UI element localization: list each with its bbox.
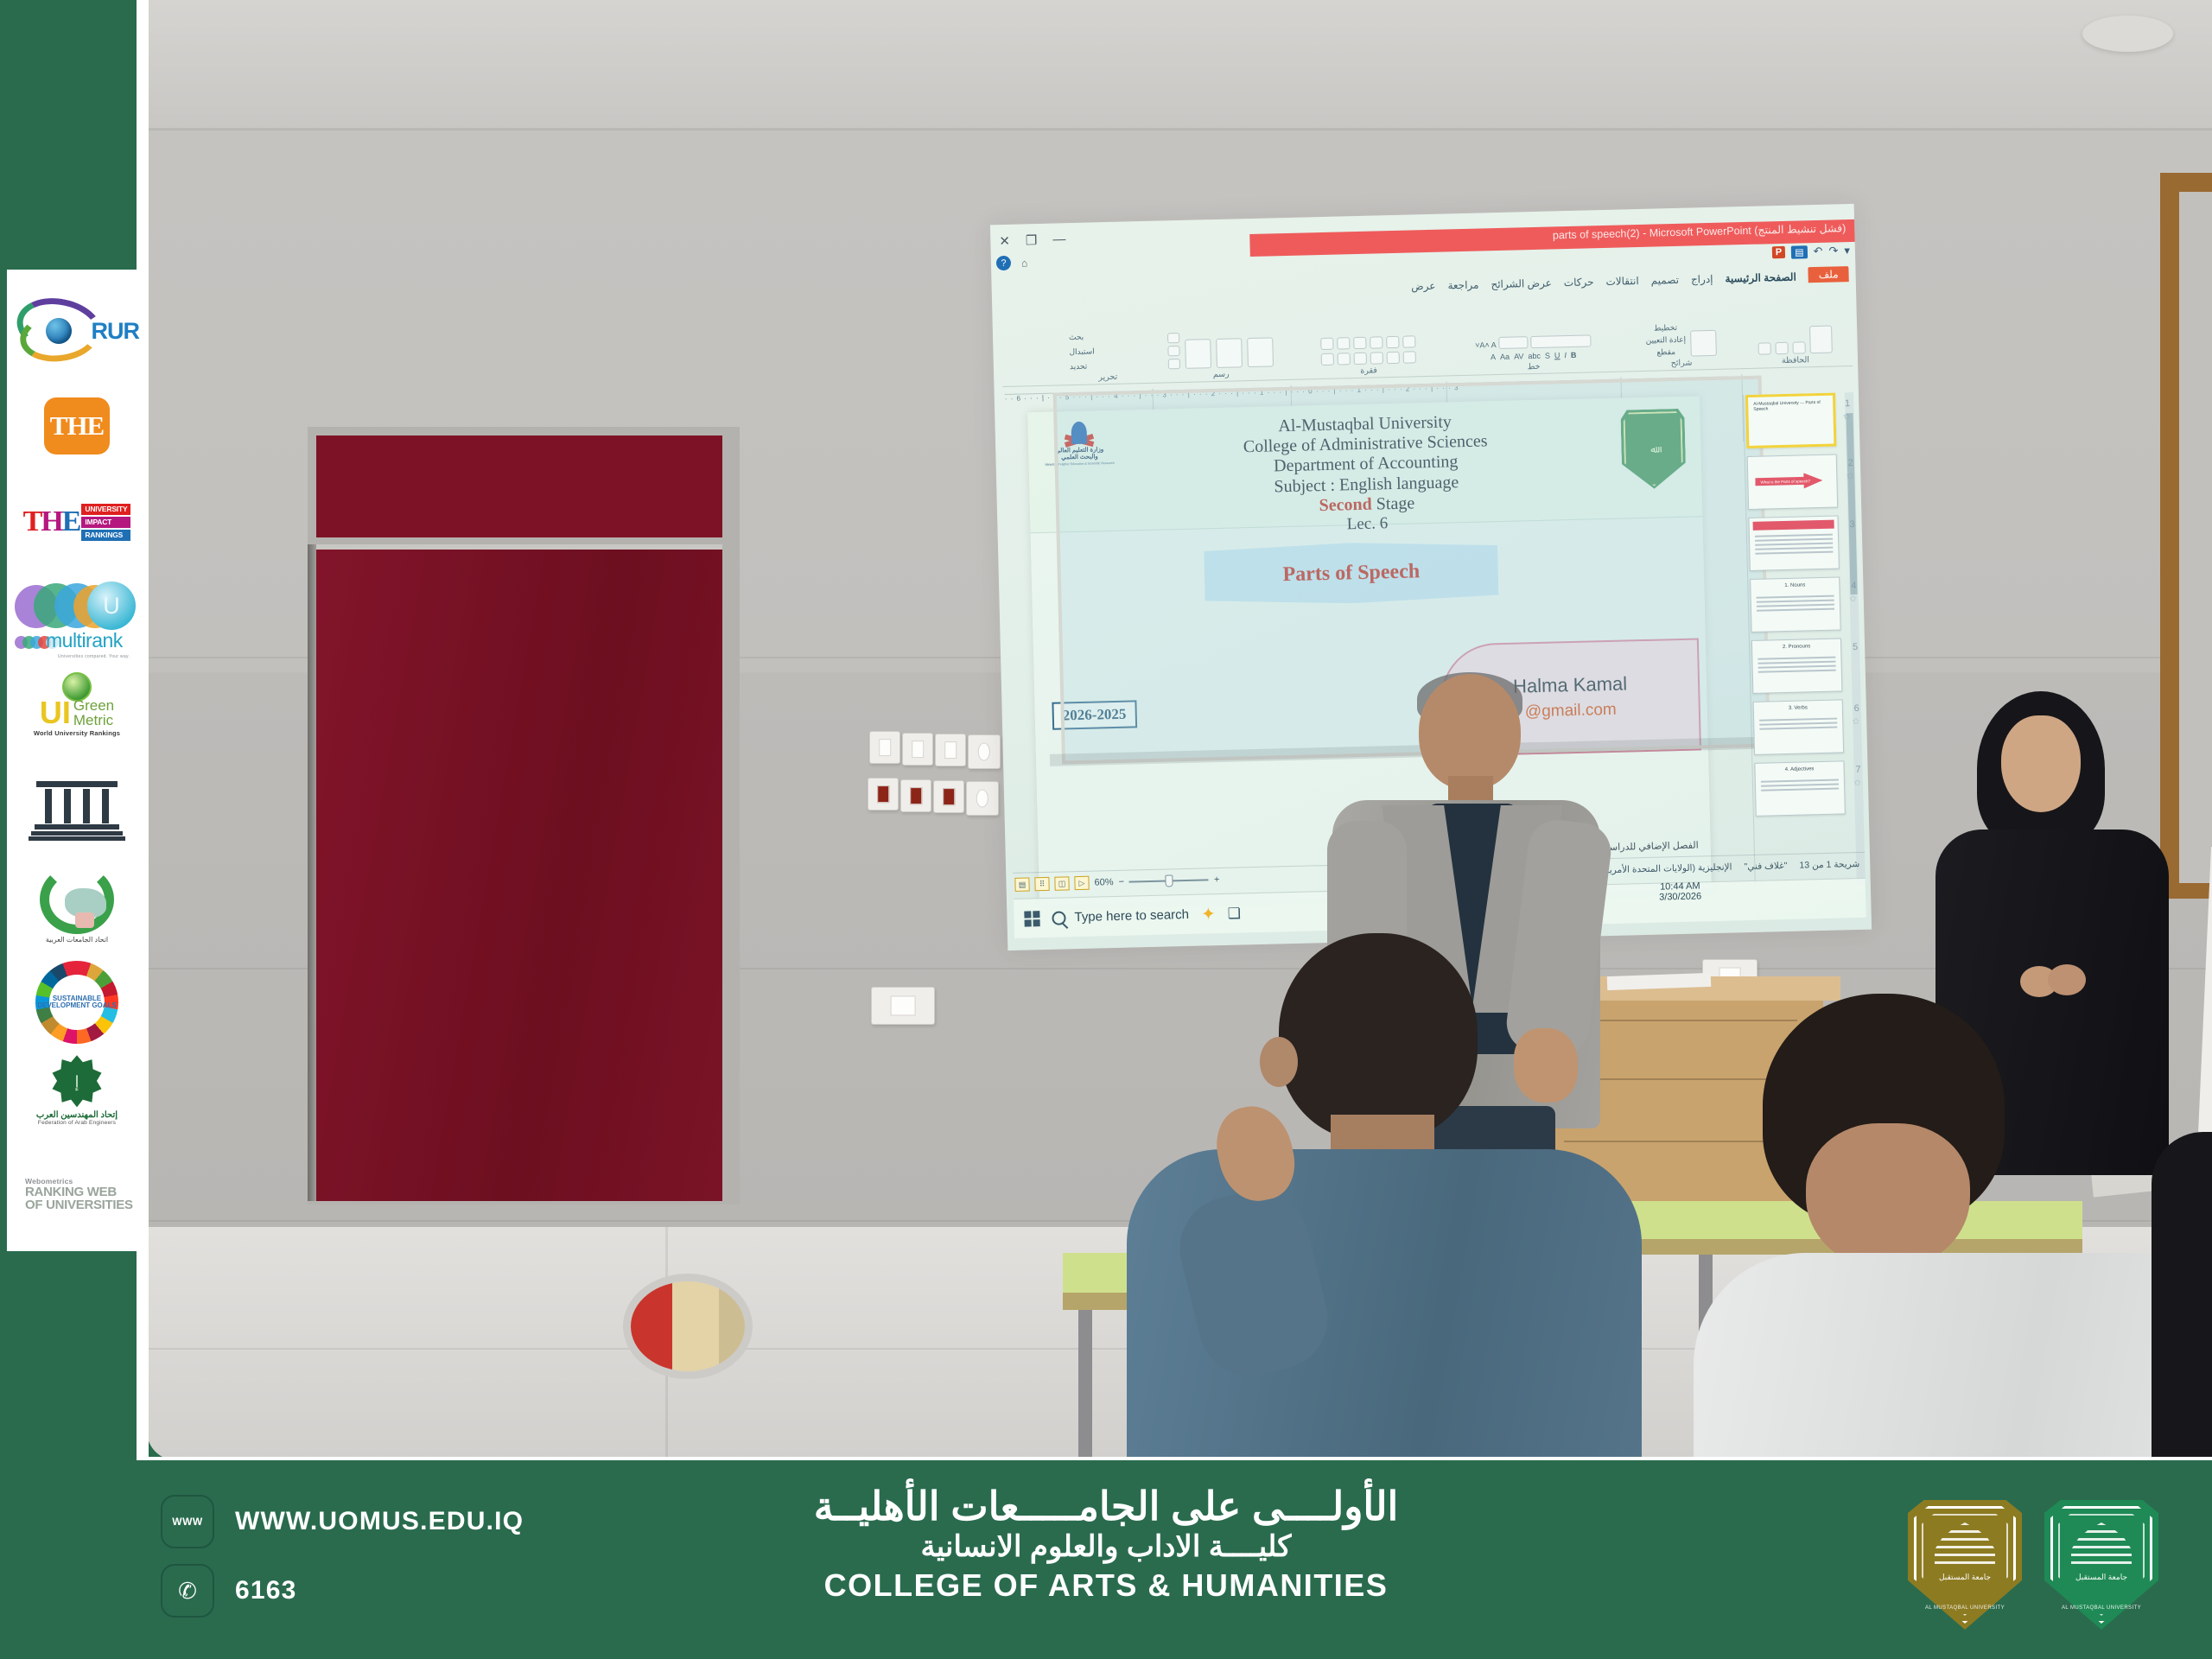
paste-icon[interactable] (1809, 326, 1833, 354)
undo-icon[interactable]: ↶ (1813, 245, 1822, 258)
taskbar-search[interactable]: Type here to search (1052, 907, 1189, 925)
ribbon-group-drawing[interactable]: رسم (1159, 330, 1282, 380)
door-transom-panel (316, 435, 722, 537)
uigreenmetric-caption: World University Rankings (16, 729, 137, 737)
system-clock[interactable]: 10:44 AM 3/30/2026 (1659, 880, 1702, 903)
footer-logo-english: AL MUSTAQBAL UNIVERSITY (1908, 1605, 2022, 1611)
accreditation-logo-strip: RUR THE THE UNIVERSITY IMPACT RANKINGS (7, 270, 147, 1251)
thumbnail-slide-7[interactable]: 4. Adjectives 7 ✩ (1754, 760, 1845, 817)
zoom-in-button[interactable]: + (1214, 874, 1220, 885)
uigreenmetric-ui: UI (40, 699, 71, 727)
umultirank-u-letter: U (87, 582, 136, 630)
arab-universities-logo: اتحاد الجامعات العربية (13, 858, 141, 954)
sdg-label: SUSTAINABLE DEVELOPMENT GOALS (35, 961, 118, 1044)
align-left-icon[interactable] (1403, 351, 1416, 363)
thumbnail-body-lines (1755, 534, 1834, 557)
footer-banner: WWW WWW.UOMUS.EDU.IQ ✆ 6163 الأولــــى ع… (0, 1460, 2212, 1659)
ribbon-group-clipboard[interactable]: الحافظة (1746, 325, 1844, 366)
windows-start-button[interactable] (1024, 911, 1039, 926)
umultirank-wordmark: multirank (46, 629, 123, 652)
strikethrough-icon[interactable]: abc (1528, 352, 1541, 360)
status-theme-name[interactable]: "غلاف فني" (1744, 861, 1787, 872)
wall-switch[interactable] (902, 733, 933, 766)
ribbon-group-editing[interactable]: بحث استبدال تحديد تحرير (1069, 331, 1146, 383)
footer-phone-row[interactable]: ✆ 6163 (161, 1564, 524, 1618)
fae-english: Federation of Arab Engineers (22, 1120, 132, 1126)
wall-thermostat[interactable] (966, 781, 999, 816)
uigreenmetric-metric: Metric (73, 714, 114, 728)
the-impact-line-3: RANKINGS (81, 530, 130, 541)
footer-english-college: COLLEGE OF ARTS & HUMANITIES (814, 1567, 1398, 1604)
font-size-box[interactable] (1498, 336, 1528, 349)
rur-globe-icon (46, 318, 72, 344)
change-case-icon[interactable]: Aa (1500, 353, 1510, 361)
umultirank-caption: Universities compared. Your way. (58, 654, 130, 659)
footer-headline-block: الأولــــى على الجامـــــعات الأهليــة ك… (814, 1484, 1398, 1604)
footer-arabic-headline: الأولــــى على الجامـــــعات الأهليــة (814, 1484, 1398, 1529)
close-icon[interactable]: ✕ (999, 233, 1010, 249)
phone-icon: ✆ (161, 1564, 214, 1618)
view-normal-icon[interactable]: ▤ (1014, 877, 1029, 891)
zoom-slider[interactable] (1129, 880, 1209, 883)
ribbon-group-font[interactable]: A˄ A˅ B I U S abc AV Aa A خط (1454, 334, 1612, 373)
quick-access-toolbar[interactable]: P ▤ ↶ ↷ ▾ (1772, 244, 1850, 259)
shape-fill-icon[interactable] (1167, 333, 1179, 343)
footer-logo-arabic: جامعة المستقبل (2044, 1573, 2158, 1583)
ribbon-group-label: شرائح (1628, 357, 1735, 369)
ceiling (147, 0, 2212, 130)
sdg-wheel-logo: SUSTAINABLE DEVELOPMENT GOALS (13, 954, 141, 1050)
thumbnail-title: 1. Nouns (1756, 582, 1834, 591)
shape-effects-icon[interactable] (1168, 359, 1180, 369)
italic-icon[interactable]: I (1564, 351, 1567, 359)
window-controls-secondary[interactable]: ? ⌂ (996, 255, 1028, 270)
slide-arabic-note: الفصل الإضافي للدراسة (1605, 840, 1699, 854)
format-painter-icon[interactable] (1758, 342, 1770, 354)
thumbnail-title-bar (1753, 520, 1834, 531)
thumbnail-slide-4[interactable]: 1. Nouns 4 ✩ (1750, 576, 1840, 632)
thumbnail-body-lines (1761, 779, 1839, 794)
cut-icon[interactable] (1792, 341, 1805, 353)
convert-smartart-icon[interactable] (1321, 353, 1334, 365)
view-reading-icon[interactable]: ◫ (1054, 876, 1069, 890)
thumbnail-body-lines (1757, 595, 1834, 614)
umultirank-logo: U multirank Universities compared. Your … (13, 570, 141, 666)
ribbon-group-label: رسم (1160, 368, 1282, 380)
restore-icon[interactable]: ❐ (1026, 232, 1038, 248)
clock-time: 10:44 AM (1659, 880, 1701, 893)
layout-label[interactable]: تخطيط (1645, 323, 1686, 334)
character-spacing-icon[interactable]: AV (1514, 352, 1524, 360)
tab-slideshow[interactable]: عرض الشرائح (1491, 276, 1552, 290)
wall-switch-red[interactable] (868, 778, 899, 810)
webometrics-logo: Webometrics RANKING WEB OF UNIVERSITIES (13, 1147, 141, 1243)
the-impact-line-2: IMPACT (81, 517, 130, 528)
help-icon[interactable]: ? (996, 256, 1011, 270)
quick-styles-icon[interactable] (1185, 339, 1211, 369)
webometrics-line-2: OF UNIVERSITIES (25, 1198, 137, 1211)
align-right-icon[interactable] (1370, 352, 1383, 364)
wall-socket[interactable] (871, 987, 935, 1025)
grow-font-icon[interactable]: A˄ A˅ (1475, 340, 1497, 350)
thumbnail-slide-5[interactable]: 2. Pronouns 5 (1751, 638, 1842, 694)
door-porthole-window (623, 1274, 753, 1379)
window-title: parts of speech(2) - Microsoft PowerPoin… (1553, 221, 1847, 241)
student-head (1279, 933, 1478, 1141)
thumbnail-body-lines (1759, 718, 1837, 733)
thumbnail-title: 4. Adjectives (1761, 766, 1839, 775)
thumbnail-body-lines (1758, 657, 1835, 676)
tab-insert[interactable]: إدراج (1691, 273, 1713, 286)
classroom-lecture-photo: parts of speech(2) - Microsoft PowerPoin… (147, 0, 2212, 1460)
line-spacing-icon[interactable] (1337, 337, 1350, 349)
footer-logo-english: AL MUSTAQBAL UNIVERSITY (2044, 1605, 2158, 1611)
copy-icon[interactable] (1775, 342, 1788, 354)
wooden-door-frame-inner (2179, 192, 2212, 883)
webometrics-line-1: RANKING WEB (25, 1185, 137, 1198)
view-slide-sorter-icon[interactable]: ⠿ (1034, 877, 1049, 891)
powerpoint-title-bar: parts of speech(2) - Microsoft PowerPoin… (1249, 219, 1854, 257)
numbering-icon[interactable] (1386, 336, 1399, 348)
the-logo-label: THE (50, 410, 104, 442)
footer-arabic-college: كليــــة الاداب والعلوم الانسانية (814, 1529, 1398, 1565)
ribbon-options-icon[interactable]: ⌂ (1021, 257, 1028, 269)
footer-logo-arabic: جامعة المستقبل (1908, 1573, 2022, 1583)
student-body-dark (2152, 1132, 2212, 1460)
ribbon-group-label: الحافظة (1747, 354, 1844, 366)
student-face (1806, 1123, 1970, 1270)
ribbon-group-paragraph[interactable]: فقرة (1299, 335, 1438, 378)
rur-logo: RUR (13, 282, 141, 378)
thumbnail-title: 2. Pronouns (1758, 644, 1835, 652)
decrease-indent-icon[interactable] (1370, 336, 1382, 348)
thumbnail-title: Al-Mustaqbal University — Parts of Speec… (1753, 400, 1827, 413)
view-slideshow-icon[interactable]: ▷ (1074, 876, 1089, 890)
tab-view[interactable]: عرض (1411, 280, 1436, 293)
student-shirt-white (1694, 1253, 2212, 1460)
wall-switch-red[interactable] (933, 780, 964, 813)
thumbnail-slide-2[interactable]: What is the Parts of speech? 2 ✩ (1747, 454, 1838, 510)
al-mustaqbal-university-green-logo: جامعة المستقبل AL MUSTAQBAL UNIVERSITY (2044, 1500, 2158, 1630)
footer-university-logos: جامعة المستقبل AL MUSTAQBAL UNIVERSITY ج… (1908, 1500, 2158, 1630)
columns-icon[interactable] (1338, 353, 1351, 365)
student-front-left (1115, 933, 1650, 1460)
zoom-level-label: 60% (1094, 877, 1113, 888)
bold-icon[interactable]: B (1571, 351, 1577, 359)
tab-transitions[interactable]: انتقالات (1605, 275, 1639, 288)
federation-arab-engineers-logo: إ إتحاد المهندسين العرب Federation of Ar… (13, 1051, 141, 1147)
copilot-sparkle-icon[interactable]: ✦ (1201, 903, 1216, 925)
thumbnail-slide-6[interactable]: 3. Verbs 6 ✩ (1753, 699, 1844, 755)
minimize-icon[interactable]: — (1052, 232, 1065, 247)
thumbnail-slide-1[interactable]: Al-Mustaqbal University — Parts of Speec… (1745, 393, 1836, 449)
wall-seam (147, 128, 2212, 130)
student-ear (1260, 1037, 1298, 1087)
ribbon-group-slides[interactable]: تخطيط إعادة التعيين مقطع شرائح (1627, 321, 1735, 369)
wall-switch-red[interactable] (900, 779, 931, 812)
status-language[interactable]: الإنجليزية (الولايات المتحدة الأمريكية) (1594, 861, 1732, 875)
ribbon-group-label: تحرير (1070, 372, 1146, 383)
replace-label[interactable]: استبدال (1069, 346, 1095, 357)
student-back-right (2152, 1132, 2212, 1460)
rur-logo-label: RUR (92, 318, 140, 345)
thumbnail-title: 3. Verbs (1759, 705, 1837, 714)
save-icon[interactable]: ▤ (1791, 245, 1808, 258)
the-logo: THE (13, 378, 141, 474)
align-center-icon[interactable] (1387, 352, 1400, 364)
shadow-icon[interactable]: S (1545, 352, 1550, 360)
font-name-box[interactable] (1530, 334, 1591, 348)
ceiling-light-icon (2082, 16, 2173, 52)
font-color-icon[interactable]: A (1491, 353, 1496, 361)
student-front-right (1694, 994, 2212, 1460)
tab-design[interactable]: تصميم (1651, 274, 1680, 287)
uigreenmetric-logo: UI Green Metric World University Ranking… (13, 666, 141, 762)
unesco-temple-logo (13, 762, 141, 858)
wall-switch[interactable] (935, 734, 966, 766)
clock-date: 3/30/2026 (1659, 892, 1701, 904)
task-view-icon[interactable]: ❏ (1228, 905, 1242, 922)
globe-www-icon: WWW (161, 1495, 214, 1548)
classroom-door[interactable] (316, 544, 722, 1201)
increase-indent-icon[interactable] (1353, 337, 1366, 349)
find-label[interactable]: بحث (1069, 333, 1084, 342)
shape-outline-icon[interactable] (1167, 346, 1179, 356)
section-label[interactable]: مقطع (1646, 347, 1687, 358)
fae-arabic: إتحاد المهندسين العرب (22, 1110, 132, 1120)
search-icon (1052, 911, 1065, 925)
text-direction-icon[interactable] (1320, 338, 1333, 350)
tab-file[interactable]: ملف (1808, 266, 1849, 283)
bullets-icon[interactable] (1402, 335, 1415, 347)
tab-review[interactable]: مراجعة (1447, 279, 1478, 292)
arrange-icon[interactable] (1216, 338, 1243, 368)
the-impact-line-1: UNIVERSITY (81, 504, 130, 515)
zoom-out-button[interactable]: − (1118, 877, 1124, 887)
fae-star-icon: إ (50, 1055, 104, 1109)
moderator-face (2001, 715, 2081, 812)
powerpoint-app-icon: P (1772, 246, 1786, 258)
slide-thumbnail-pane[interactable]: Al-Mustaqbal University — Parts of Speec… (1743, 392, 1866, 887)
redo-icon[interactable]: ↷ (1828, 244, 1838, 257)
page-frame: parts of speech(2) - Microsoft PowerPoin… (0, 0, 2212, 1659)
shapes-icon[interactable] (1247, 337, 1274, 367)
tab-home[interactable]: الصفحة الرئيسية (1725, 271, 1796, 285)
the-impact-rankings-logo: THE UNIVERSITY IMPACT RANKINGS (13, 474, 141, 569)
footer-website-row[interactable]: WWW WWW.UOMUS.EDU.IQ (161, 1495, 524, 1548)
ribbon-group-label: خط (1455, 360, 1612, 373)
underline-icon[interactable]: U (1554, 351, 1560, 359)
new-slide-icon[interactable] (1690, 330, 1717, 357)
lecturer-head (1419, 674, 1521, 790)
wall-thermostat[interactable] (968, 734, 1001, 769)
footer-phone[interactable]: 6163 (235, 1576, 297, 1605)
ribbon-body: الحافظة تخطيط إعادة التعيين مقطع شرائح (1001, 287, 1853, 387)
ribbon-group-label: فقرة (1300, 365, 1438, 378)
al-mustaqbal-university-gold-logo: جامعة المستقبل AL MUSTAQBAL UNIVERSITY (1908, 1500, 2022, 1630)
desk-leg (1078, 1310, 1092, 1460)
customize-qat-icon[interactable]: ▾ (1844, 244, 1850, 257)
search-input[interactable]: Type here to search (1074, 907, 1189, 925)
tab-animations[interactable]: حركات (1564, 276, 1594, 289)
thumbnail-arrow-shape: What is the Parts of speech? (1755, 473, 1822, 490)
select-label[interactable]: تحديد (1070, 362, 1088, 372)
reset-label[interactable]: إعادة التعيين (1646, 335, 1687, 346)
window-controls[interactable]: ✕ ❐ — (999, 232, 1065, 249)
arab-universities-caption: اتحاد الجامعات العربية (25, 936, 129, 944)
justify-icon[interactable] (1354, 353, 1367, 365)
footer-website[interactable]: WWW.UOMUS.EDU.IQ (235, 1507, 524, 1536)
thumbnail-slide-3[interactable]: 3 (1748, 515, 1839, 571)
wall-switch[interactable] (869, 731, 900, 764)
status-slide-counter[interactable]: شريحة 1 من 13 (1799, 858, 1859, 870)
moderator-hand-right (2048, 964, 2086, 995)
footer-contact-block: WWW WWW.UOMUS.EDU.IQ ✆ 6163 (161, 1495, 524, 1618)
